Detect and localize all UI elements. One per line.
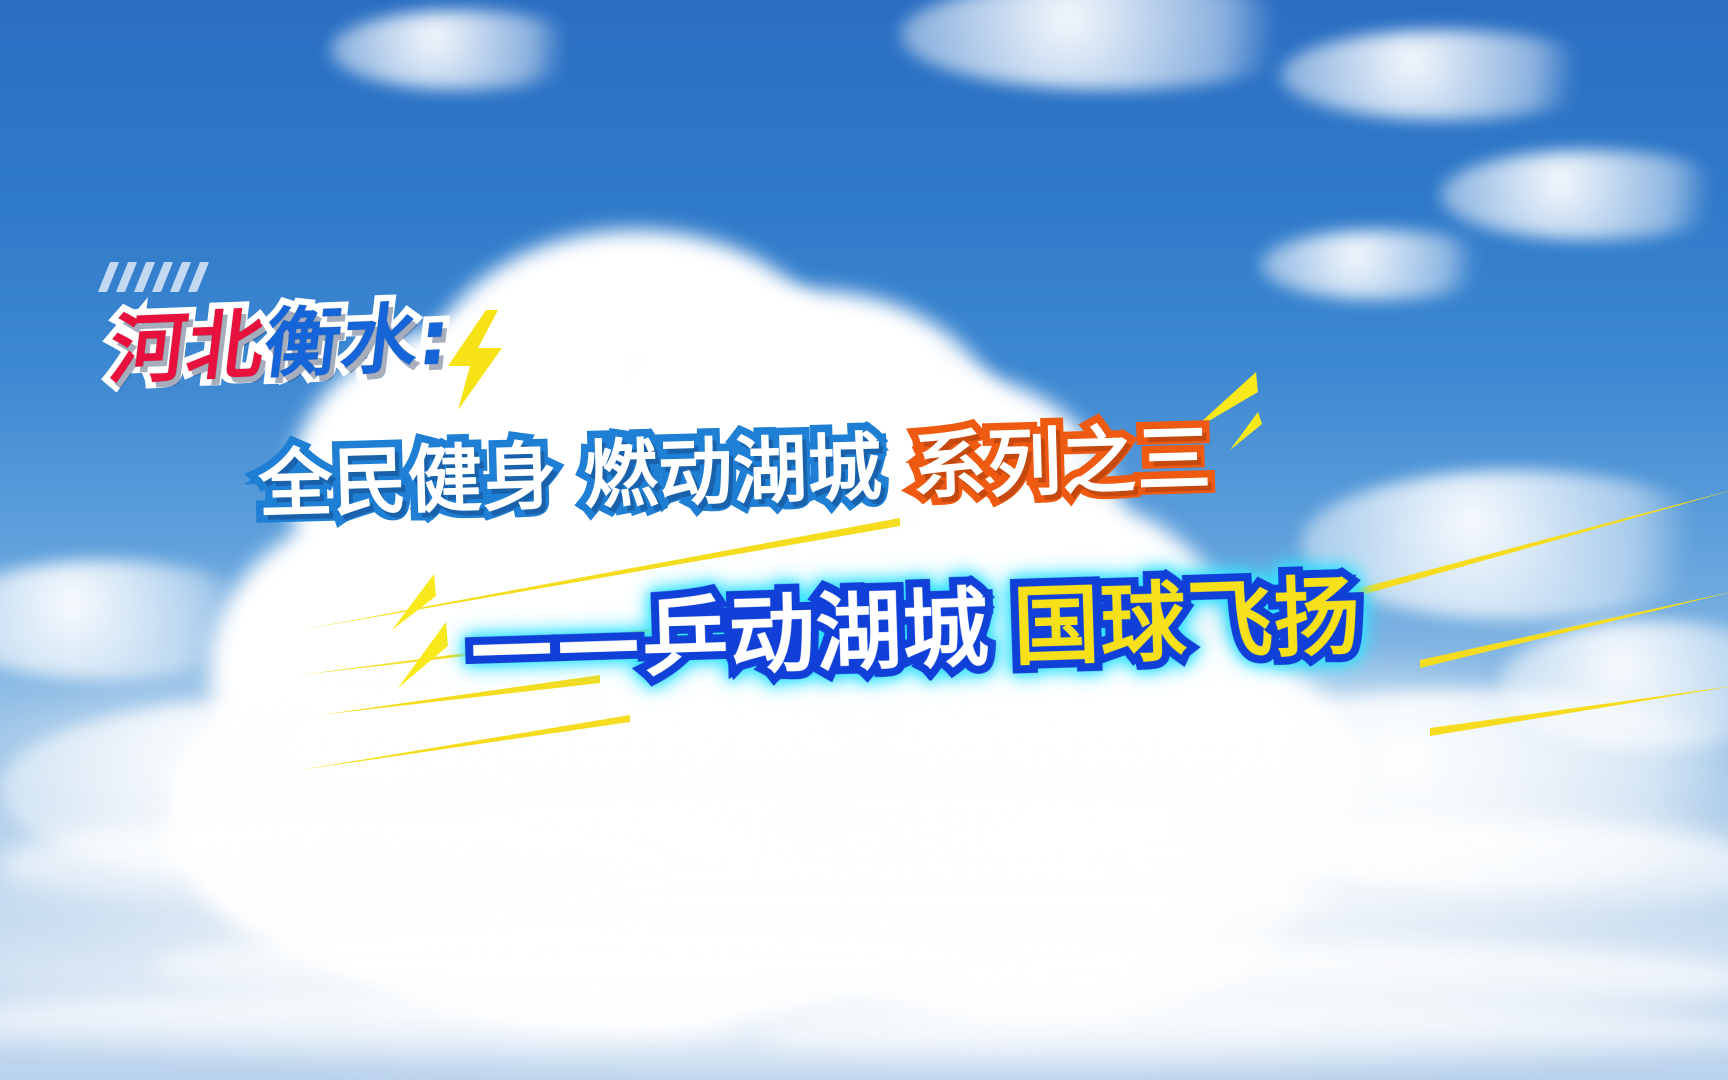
title-card-stage: 河北衡水: 全民健身 燃动湖城系列之三 ——乒动湖城国球飞扬: [0, 0, 1728, 1080]
title-line3-segment-highlight: 国球飞扬: [1011, 546, 1362, 682]
title-line1-segment-prefecture: 河北: [105, 283, 273, 399]
title-line2-segment-campaign: 全民健身 燃动湖城: [257, 408, 884, 532]
title-line1-segment-city: 衡水:: [259, 276, 458, 393]
title-line2-segment-series: 系列之三: [911, 399, 1213, 514]
title-line-3: ——乒动湖城国球飞扬: [466, 546, 1362, 699]
title-line-1: 河北衡水:: [105, 276, 458, 399]
title-line-2: 全民健身 燃动湖城系列之三: [257, 399, 1213, 533]
title-line3-segment-subtitle: ——乒动湖城: [466, 558, 991, 699]
title-overlay: 河北衡水: 全民健身 燃动湖城系列之三 ——乒动湖城国球飞扬: [0, 0, 1728, 1080]
